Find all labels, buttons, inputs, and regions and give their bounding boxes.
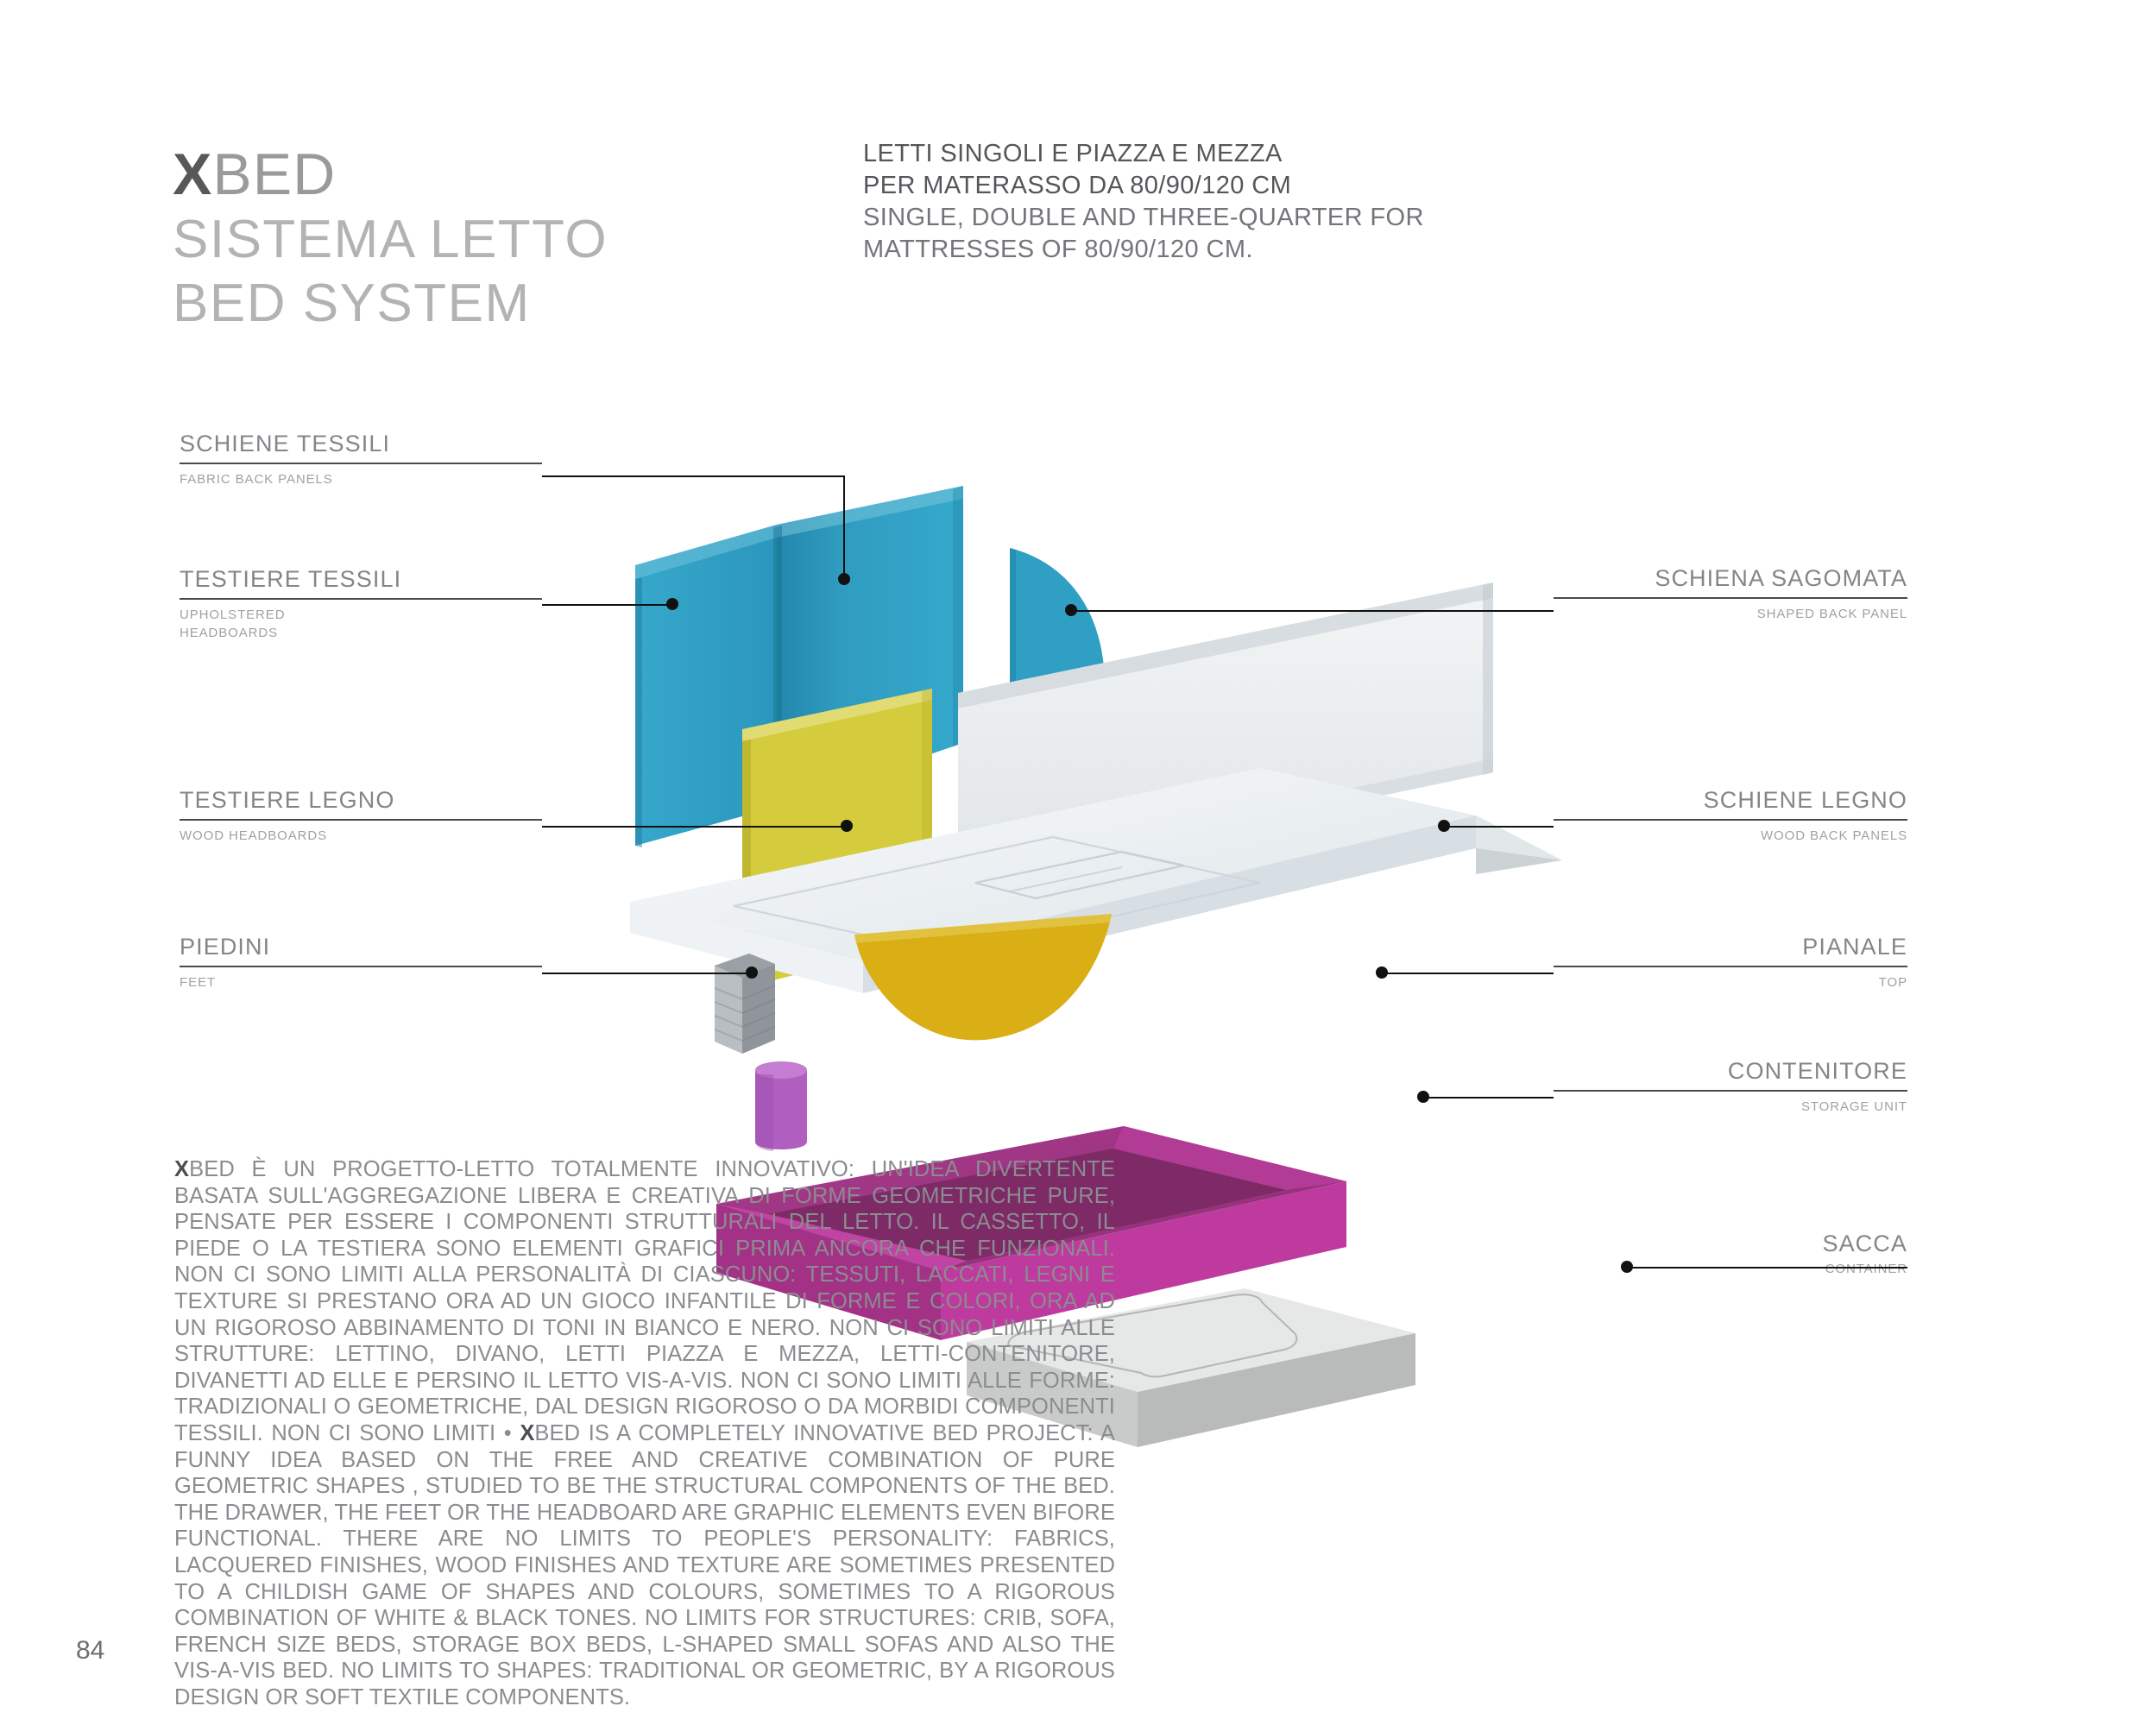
callout-rule [180, 966, 542, 967]
callout-rule [180, 463, 542, 464]
leader-dot-upholstered-headboards [666, 598, 678, 610]
leader-line-wood-headboards [542, 826, 846, 828]
leader-line-storage-unit [1422, 1097, 1554, 1099]
callout-label-it: TESTIERE LEGNO [180, 785, 542, 815]
leader-line-wood-back-panels [1443, 826, 1554, 828]
callout-label-it: PIANALE [1554, 932, 1907, 961]
page-number: 84 [76, 1636, 104, 1665]
body-english-x: X [520, 1421, 534, 1445]
foot-cylinder-purple [755, 1061, 807, 1151]
callout-label-it: SCHIENE LEGNO [1554, 785, 1907, 815]
leader-dot-wood-back-panels [1438, 820, 1450, 832]
callout-rule [1554, 966, 1907, 967]
leader-line-top [1381, 973, 1554, 974]
leader-line-shaped-back-panel [1070, 610, 1554, 612]
callout-label-en: SHAPED BACK PANEL [1554, 605, 1907, 623]
callout-label-en: UPHOLSTERED HEADBOARDS [180, 606, 542, 642]
leader-line-fabric-back-panels [542, 475, 844, 477]
subtitle-italian: SISTEMA LETTO [173, 208, 608, 272]
leader-dot-feet [746, 966, 758, 979]
leader-line-fabric-back-panels-vertical [843, 475, 845, 579]
leader-line-feet [542, 973, 751, 974]
callout-upholstered-headboards: TESTIERE TESSILI UPHOLSTERED HEADBOARDS [180, 564, 542, 642]
callout-storage-unit: CONTENITORE STORAGE UNIT [1554, 1056, 1907, 1116]
note-english-line1: SINGLE, DOUBLE AND THREE-QUARTER FOR [863, 202, 1424, 234]
callout-label-it: CONTENITORE [1554, 1056, 1907, 1086]
callout-label-en: WOOD BACK PANELS [1554, 827, 1907, 845]
half-disc-yellow [854, 914, 1112, 1040]
description-paragraph: XBED È UN PROGETTO-LETTO TOTALMENTE INNO… [174, 1156, 1115, 1710]
callout-rule [1554, 819, 1907, 821]
callout-fabric-back-panels: SCHIENE TESSILI FABRIC BACK PANELS [180, 429, 542, 488]
leader-dot-shaped-back-panel [1065, 604, 1077, 616]
subtitle-english: BED SYSTEM [173, 272, 608, 336]
catalog-page: XBED SISTEMA LETTO BED SYSTEM LETTI SING… [0, 0, 2156, 1725]
callout-rule [180, 598, 542, 600]
leader-line-container [1626, 1267, 1907, 1269]
body-italian: BED È UN PROGETTO-LETTO TOTALMENTE INNOV… [174, 1157, 1115, 1445]
callout-label-it: TESTIERE TESSILI [180, 564, 542, 594]
callout-feet: PIEDINI FEET [180, 932, 542, 992]
callout-wood-back-panels: SCHIENE LEGNO WOOD BACK PANELS [1554, 785, 1907, 845]
foot-ribbed-gray [715, 954, 775, 1054]
callout-shaped-back-panel: SCHIENA SAGOMATA SHAPED BACK PANEL [1554, 563, 1907, 623]
callout-label-it: SCHIENA SAGOMATA [1554, 563, 1907, 593]
leader-dot-storage-unit [1417, 1091, 1429, 1103]
callout-label-en: CONTAINER [1554, 1260, 1907, 1278]
product-title: XBED [173, 141, 608, 208]
callout-label-en: STORAGE UNIT [1554, 1098, 1907, 1116]
title-rest: BED [212, 142, 336, 207]
leader-dot-wood-headboards [841, 820, 853, 832]
callout-label-en: FABRIC BACK PANELS [180, 470, 542, 488]
leader-line-upholstered-headboards [542, 604, 671, 606]
callout-rule [1554, 597, 1907, 599]
callout-rule [180, 819, 542, 821]
callout-wood-headboards: TESTIERE LEGNO WOOD HEADBOARDS [180, 785, 542, 845]
callout-top: PIANALE TOP [1554, 932, 1907, 992]
header-note: LETTI SINGOLI E PIAZZA E MEZZA PER MATER… [863, 138, 1424, 266]
leader-dot-top [1376, 966, 1388, 979]
body-bullet: • [504, 1421, 520, 1445]
note-italian-line2: PER MATERASSO DA 80/90/120 CM [863, 170, 1424, 202]
body-lead-x: X [174, 1157, 189, 1181]
title-x-mark: X [173, 142, 212, 207]
leader-dot-fabric-back-panels [838, 573, 850, 585]
body-english: BED IS A COMPLETELY INNOVATIVE BED PROJE… [174, 1421, 1115, 1709]
page-title: XBED SISTEMA LETTO BED SYSTEM [173, 141, 608, 336]
callout-rule [1554, 1090, 1907, 1092]
callout-label-en: WOOD HEADBOARDS [180, 827, 542, 845]
leader-dot-container [1621, 1261, 1633, 1273]
callout-label-it: PIEDINI [180, 932, 542, 961]
note-english-line2: MATTRESSES OF 80/90/120 CM. [863, 234, 1424, 266]
callout-label-it: SACCA [1554, 1229, 1907, 1258]
note-italian-line1: LETTI SINGOLI E PIAZZA E MEZZA [863, 138, 1424, 170]
callout-label-en: FEET [180, 973, 542, 992]
callout-label-en: TOP [1554, 973, 1907, 992]
callout-label-it: SCHIENE TESSILI [180, 429, 542, 458]
callout-container: SACCA CONTAINER [1554, 1229, 1907, 1278]
